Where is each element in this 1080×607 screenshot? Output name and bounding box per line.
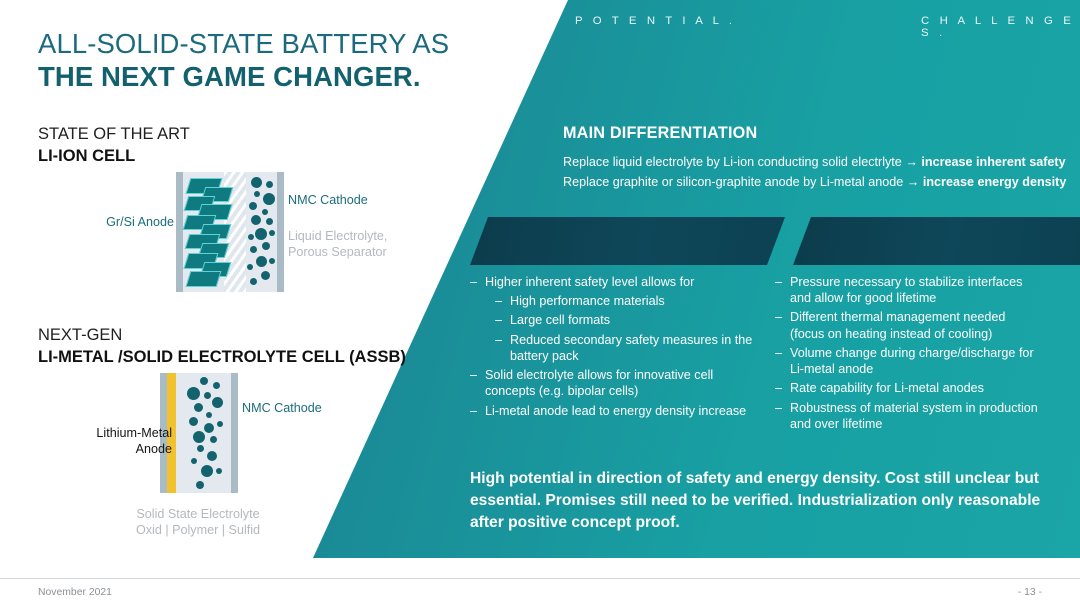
potential-item: –Solid electrolyte allows for innovative… [470, 367, 762, 399]
md-line-emphasis: increase energy density [923, 175, 1067, 189]
cathode-particle-icon [196, 481, 204, 489]
challenges-item: –Pressure necessary to stabilize interfa… [775, 274, 1040, 306]
challenges-list: –Pressure necessary to stabilize interfa… [775, 274, 1040, 435]
dash-bullet-icon: – [495, 332, 510, 364]
dash-bullet-icon: – [470, 403, 485, 419]
cathode-particle-icon [217, 421, 223, 427]
cathode-particle-icon [250, 278, 257, 285]
label-lithium-metal-anode-line-1: Lithium-Metal [48, 425, 172, 441]
potential-item: –High performance materials [495, 293, 762, 309]
label-lithium-metal-anode-line-2: Anode [48, 441, 172, 457]
banner-label-challenges: C H A L L E N G E S . [921, 15, 1080, 39]
cathode-particle-icon [191, 458, 197, 464]
dash-bullet-icon: – [775, 274, 790, 306]
current-collector-right-icon [231, 373, 238, 493]
arrow-icon: → [907, 175, 923, 189]
dash-bullet-icon: – [470, 274, 485, 290]
slide: ALL-SOLID-STATE BATTERY AS THE NEXT GAME… [0, 0, 1080, 607]
dash-bullet-icon: – [495, 312, 510, 328]
potential-item-label: Solid electrolyte allows for innovative … [485, 367, 762, 399]
label-nmc-cathode-assb: NMC Cathode [242, 400, 322, 416]
main-differentiation-line-1: Replace liquid electrolyte by Li-ion con… [563, 153, 1063, 173]
cathode-particle-icon [210, 436, 217, 443]
cathode-particle-icon [193, 431, 205, 443]
challenges-item-label: Volume change during charge/discharge fo… [790, 345, 1040, 377]
challenges-item: –Different thermal management needed (fo… [775, 309, 1040, 341]
md-line-text: Replace liquid electrolyte by Li-ion con… [563, 155, 905, 169]
banner-label-potential: P O T E N T I A L . [575, 15, 736, 27]
cathode-particle-icon [262, 209, 268, 215]
dash-bullet-icon: – [775, 400, 790, 432]
cathode-particle-icon [212, 397, 223, 408]
cathode-particle-icon [200, 377, 208, 385]
potential-item: –Li-metal anode lead to energy density i… [470, 403, 762, 419]
potential-item: –Higher inherent safety level allows for [470, 274, 762, 290]
banner-half-challenges [793, 217, 1080, 265]
title-line-1: ALL-SOLID-STATE BATTERY AS [38, 28, 508, 61]
challenges-item-label: Rate capability for Li-metal anodes [790, 380, 1040, 396]
cathode-particle-icon [251, 177, 262, 188]
label-nmc-cathode-liion: NMC Cathode [288, 192, 368, 208]
dash-bullet-icon: – [775, 380, 790, 396]
challenges-item-label: Different thermal management needed (foc… [790, 309, 1040, 341]
cathode-particle-icon [249, 202, 257, 210]
challenges-item-label: Pressure necessary to stabilize interfac… [790, 274, 1040, 306]
dash-bullet-icon: – [775, 345, 790, 377]
banner-half-potential [470, 217, 785, 265]
challenges-item: –Volume change during charge/discharge f… [775, 345, 1040, 377]
section-banner [0, 217, 1080, 265]
sota-title: LI-ION CELL [38, 146, 190, 168]
main-differentiation-lines: Replace liquid electrolyte by Li-ion con… [563, 153, 1063, 192]
md-line-emphasis: increase inherent safety [921, 155, 1065, 169]
nextgen-title: LI-METAL /SOLID ELECTROLYTE CELL (ASSB) [38, 347, 406, 369]
section-heading-next-gen: NEXT-GEN LI-METAL /SOLID ELECTROLYTE CEL… [38, 325, 406, 369]
label-solid-state-electrolyte: Solid State Electrolyte Oxid | Polymer |… [132, 506, 264, 538]
challenges-item: –Robustness of material system in produc… [775, 400, 1040, 432]
arrow-icon: → [905, 155, 921, 169]
potential-item: –Reduced secondary safety measures in th… [495, 332, 762, 364]
summary-statement: High potential in direction of safety an… [470, 468, 1045, 534]
label-solid-state-electrolyte-line-1: Solid State Electrolyte [132, 506, 264, 522]
cathode-particle-icon [197, 445, 204, 452]
cathode-particle-icon [194, 403, 203, 412]
potential-item-label: Reduced secondary safety measures in the… [510, 332, 762, 364]
potential-list: –Higher inherent safety level allows for… [470, 274, 762, 422]
footer-divider [0, 578, 1080, 579]
footer-date: November 2021 [38, 587, 112, 598]
footer-page-number: - 13 - [1018, 587, 1042, 598]
dash-bullet-icon: – [775, 309, 790, 341]
cathode-particle-icon [261, 271, 270, 280]
nextgen-subtitle: NEXT-GEN [38, 325, 406, 347]
potential-item-label: Li-metal anode lead to energy density in… [485, 403, 762, 419]
sota-subtitle: STATE OF THE ART [38, 124, 190, 146]
dash-bullet-icon: – [495, 293, 510, 309]
potential-item-label: High performance materials [510, 293, 762, 309]
cathode-particle-icon [266, 181, 273, 188]
cathode-particle-icon [189, 417, 198, 426]
cathode-particle-icon [216, 468, 222, 474]
cathode-particle-icon [201, 465, 213, 477]
page-title: ALL-SOLID-STATE BATTERY AS THE NEXT GAME… [38, 28, 508, 93]
main-differentiation-title: MAIN DIFFERENTIATION [563, 124, 1063, 143]
potential-item-label: Higher inherent safety level allows for [485, 274, 762, 290]
cathode-particle-icon [204, 423, 214, 433]
main-differentiation-block: MAIN DIFFERENTIATION Replace liquid elec… [563, 124, 1063, 192]
dash-bullet-icon: – [470, 367, 485, 399]
cathode-particle-icon [187, 387, 200, 400]
cathode-particle-icon [213, 382, 220, 389]
md-line-text: Replace graphite or silicon-graphite ano… [563, 175, 907, 189]
label-solid-state-electrolyte-line-2: Oxid | Polymer | Sulfid [132, 522, 264, 538]
main-differentiation-line-2: Replace graphite or silicon-graphite ano… [563, 173, 1063, 193]
section-heading-state-of-the-art: STATE OF THE ART LI-ION CELL [38, 124, 190, 168]
challenges-item-label: Robustness of material system in product… [790, 400, 1040, 432]
potential-item: –Large cell formats [495, 312, 762, 328]
challenges-item: –Rate capability for Li-metal anodes [775, 380, 1040, 396]
potential-item-label: Large cell formats [510, 312, 762, 328]
graphite-flake-icon [186, 271, 222, 287]
title-line-2: THE NEXT GAME CHANGER. [38, 61, 508, 94]
cathode-particle-icon [207, 451, 217, 461]
cathode-particle-icon [204, 392, 211, 399]
cathode-particle-icon [206, 412, 212, 418]
cathode-particle-icon [263, 193, 275, 205]
label-lithium-metal-anode: Lithium-Metal Anode [48, 425, 172, 457]
cathode-particle-icon [254, 191, 260, 197]
